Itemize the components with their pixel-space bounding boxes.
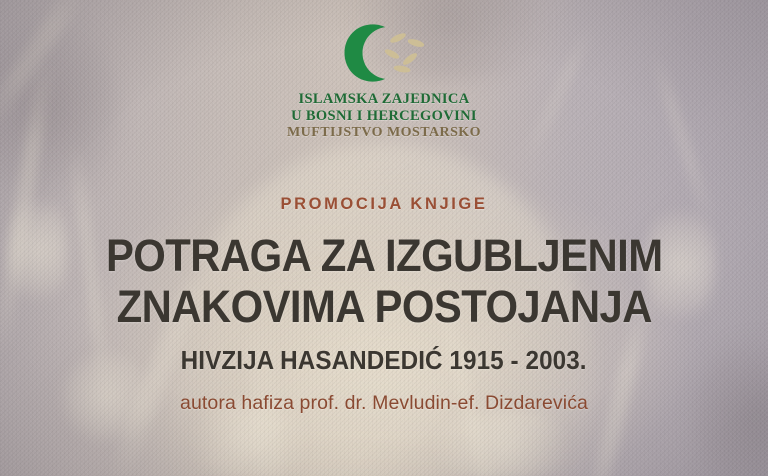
book-author: autora hafiza prof. dr. Mevludin-ef. Diz… xyxy=(180,392,588,415)
book-title-line-1: POTRAGA ZA IZGUBLJENIM xyxy=(106,231,663,281)
event-kicker: PROMOCIJA KNJIGE xyxy=(281,195,488,214)
poster-canvas: ISLAMSKA ZAJEDNICA U BOSNI I HERCEGOVINI… xyxy=(0,0,768,476)
logo-line-3: MUFTIJSTVO MOSTARSKO xyxy=(287,125,481,141)
organization-name: ISLAMSKA ZAJEDNICA U BOSNI I HERCEGOVINI… xyxy=(287,91,481,141)
book-title-line-2: ZNAKOVIMA POSTOJANJA xyxy=(106,282,663,332)
crescent-moon-icon xyxy=(326,22,442,84)
organization-logo: ISLAMSKA ZAJEDNICA U BOSNI I HERCEGOVINI… xyxy=(287,22,481,141)
book-title-block: POTRAGA ZA IZGUBLJENIM ZNAKOVIMA POSTOJA… xyxy=(85,231,683,332)
pinwheel-star-icon xyxy=(383,31,425,73)
poster-content: ISLAMSKA ZAJEDNICA U BOSNI I HERCEGOVINI… xyxy=(0,0,768,476)
logo-line-2: U BOSNI I HERCEGOVINI xyxy=(287,108,481,125)
book-subtitle: HIVZIJA HASANDEDIĆ 1915 - 2003. xyxy=(181,347,587,376)
logo-line-1: ISLAMSKA ZAJEDNICA xyxy=(287,91,481,108)
